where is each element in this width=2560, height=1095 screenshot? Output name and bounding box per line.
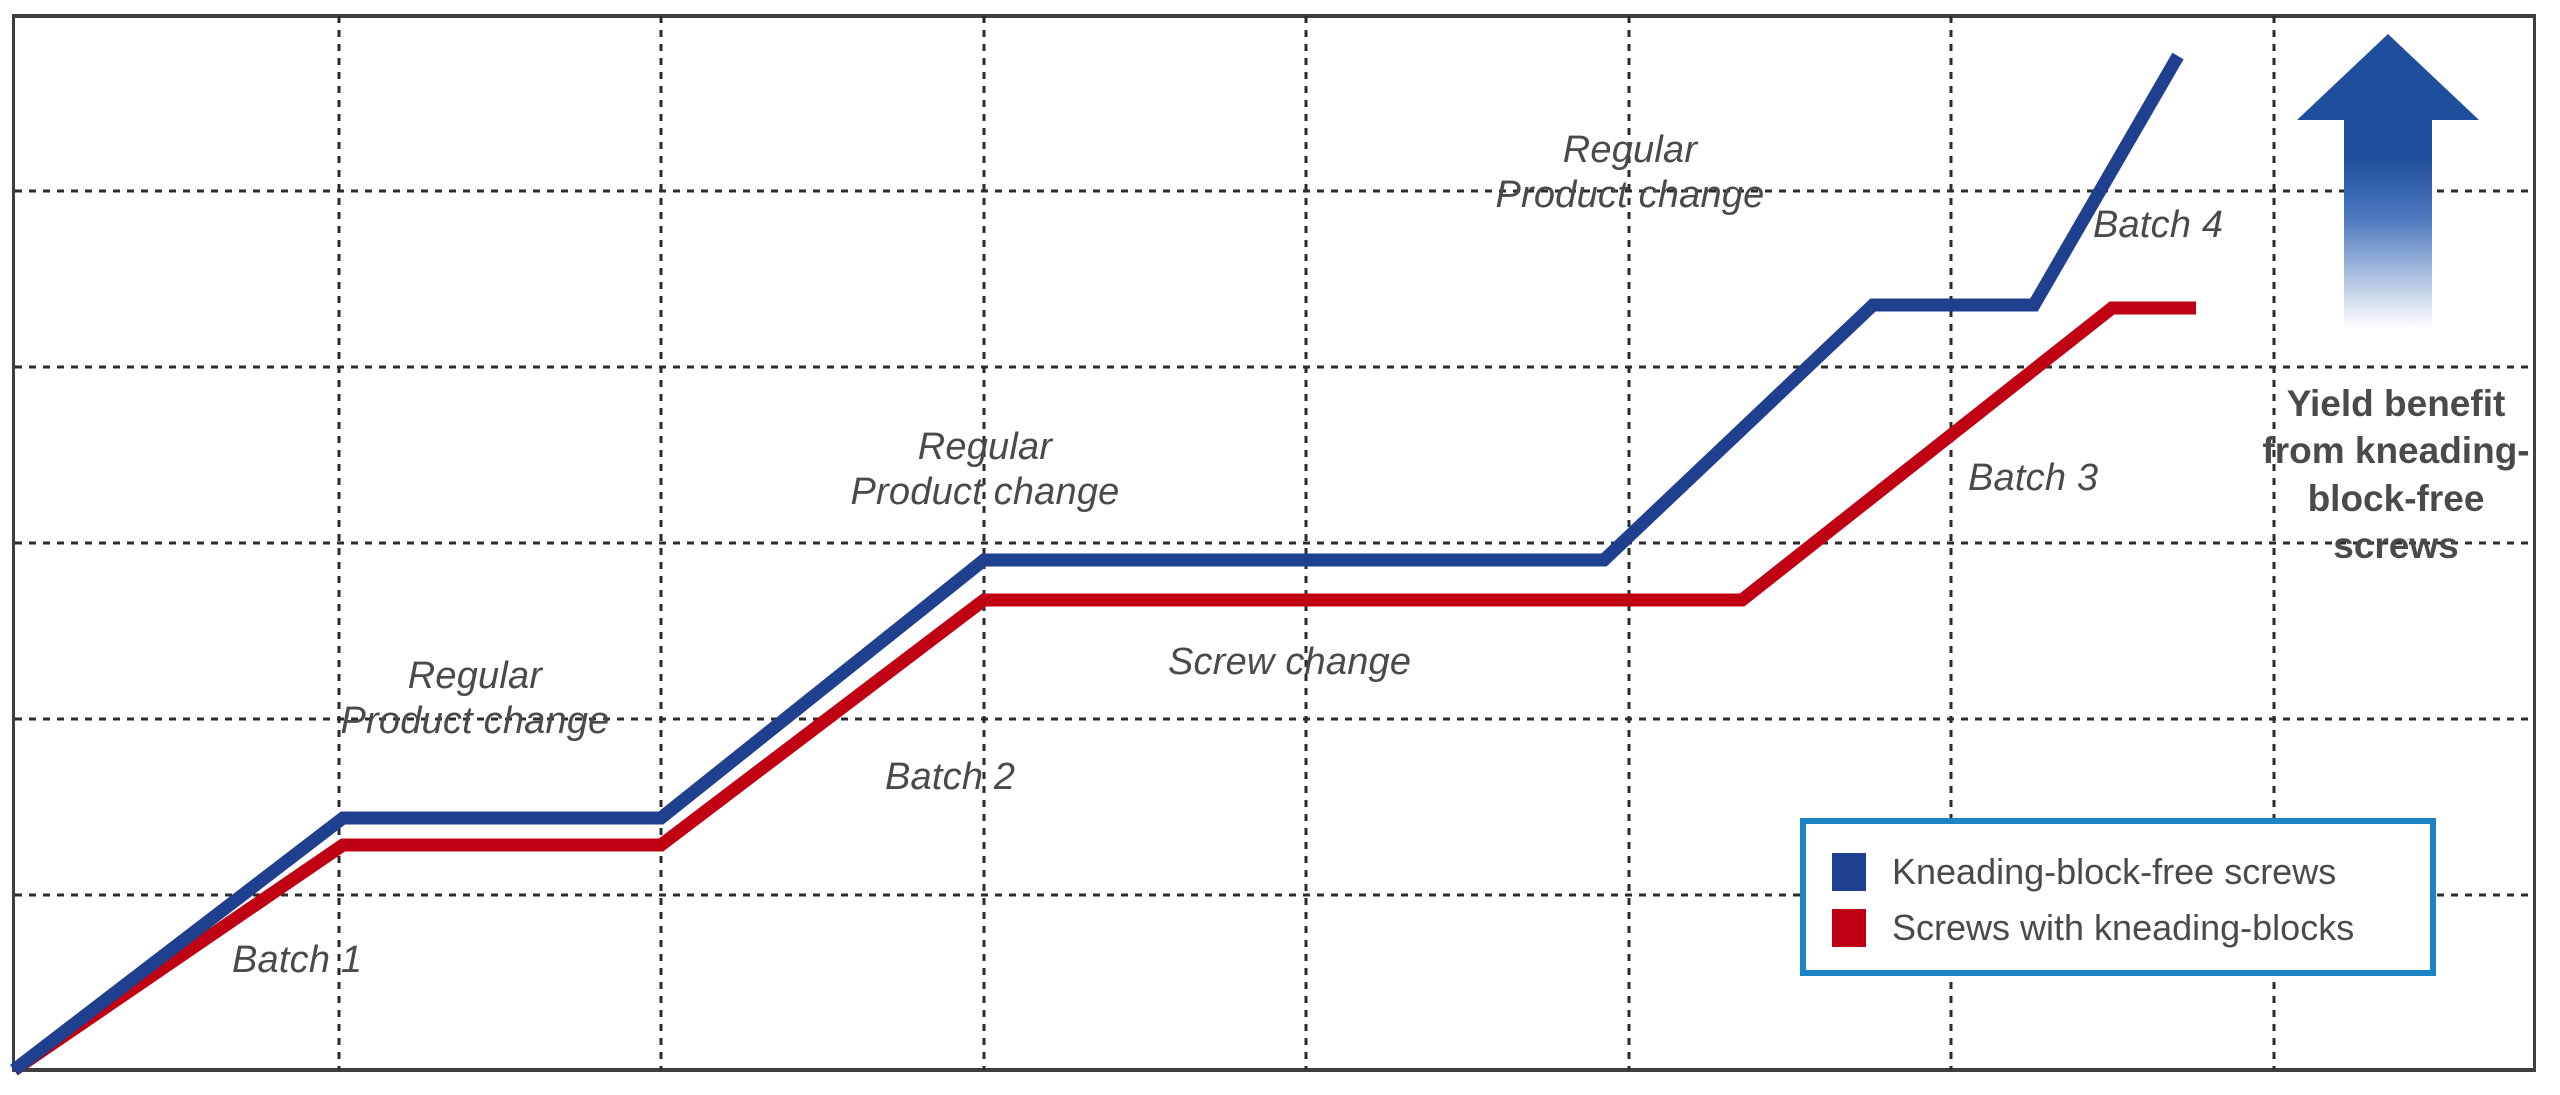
annotation-regular-product-change-2: Regular Product change [810, 425, 1160, 515]
up-arrow-icon [2288, 28, 2488, 328]
annotation-batch-2: Batch 2 [885, 755, 1015, 800]
legend-label: Kneading-block-free screws [1892, 851, 2336, 893]
callout-yield-benefit: Yield benefit from kneading- block-free … [2246, 380, 2546, 569]
callout-line-1: Yield benefit [2246, 380, 2546, 427]
callout-line-2: from kneading- [2246, 427, 2546, 474]
callout-line-4: screws [2246, 522, 2546, 569]
annotation-batch-1: Batch 1 [232, 938, 362, 983]
annotation-batch-4: Batch 4 [2093, 203, 2223, 248]
legend-item-kneading-block-free-screws[interactable]: Kneading-block-free screws [1832, 844, 2430, 900]
annotation-batch-3: Batch 3 [1968, 456, 2098, 501]
annotation-regular-product-change-3: Regular Product change [1400, 128, 1860, 218]
legend[interactable]: Kneading-block-free screws Screws with k… [1800, 818, 2436, 976]
legend-item-screws-with-kneading-blocks[interactable]: Screws with kneading-blocks [1832, 900, 2430, 956]
callout-line-3: block-free [2246, 475, 2546, 522]
annotation-line-product-change: Product change [1400, 173, 1860, 218]
blue-swatch [1832, 853, 1866, 891]
annotation-line-product-change: Product change [810, 470, 1160, 515]
annotation-line-regular: Regular [1400, 128, 1860, 173]
red-swatch [1832, 909, 1866, 947]
annotation-line-regular: Regular [300, 654, 650, 699]
chart-canvas: Batch 1 Regular Product change Batch 2 R… [0, 0, 2560, 1095]
annotation-screw-change: Screw change [1168, 640, 1411, 685]
annotation-line-product-change: Product change [300, 699, 650, 744]
annotation-regular-product-change-1: Regular Product change [300, 654, 650, 744]
annotation-line-regular: Regular [810, 425, 1160, 470]
legend-label: Screws with kneading-blocks [1892, 907, 2354, 949]
